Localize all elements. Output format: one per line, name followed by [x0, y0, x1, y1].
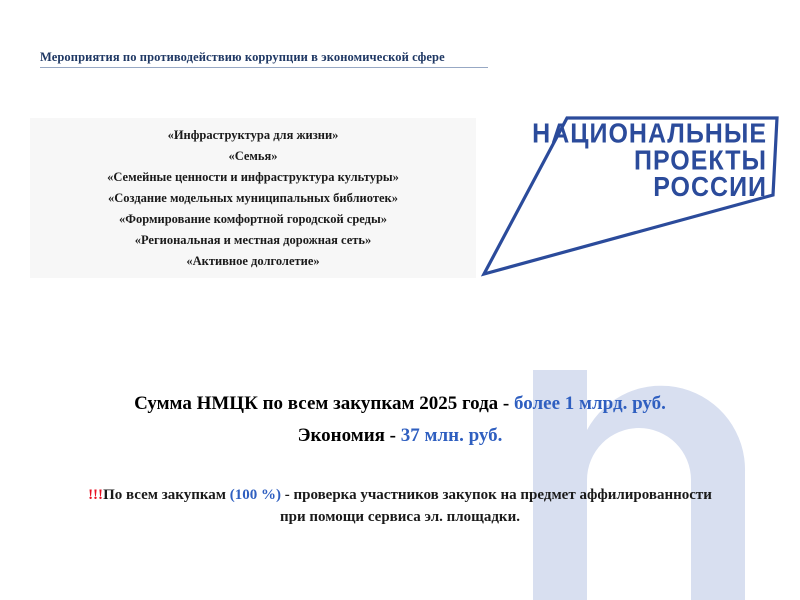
summary-line-nmck: Сумма НМЦК по всем закупкам 2025 года - … [0, 388, 800, 420]
presentation-slide: Мероприятия по противодействию коррупции… [0, 0, 800, 600]
summary-savings-value: 37 млн. руб. [401, 425, 503, 446]
summary-line-savings: Экономия - 37 млн. руб. [0, 420, 800, 452]
slide-heading: Мероприятия по противодействию коррупции… [40, 50, 488, 68]
note-line-1: !!!По всем закупкам (100 %) - проверка у… [0, 484, 800, 506]
summary-block: Сумма НМЦК по всем закупкам 2025 года - … [0, 388, 800, 452]
list-item: «Региональная и местная дорожная сеть» [30, 230, 476, 251]
note-line-2: при помощи сервиса эл. площадки. [0, 506, 800, 528]
logo-line-3: РОССИИ [653, 171, 767, 203]
note-text-part2: - проверка участников закупок на предмет… [281, 487, 712, 503]
note-text-part1: По всем закупкам [103, 487, 230, 503]
page-title: Мероприятия по противодействию коррупции… [40, 50, 488, 64]
list-item: «Активное долголетие» [30, 251, 476, 272]
heading-divider [40, 67, 488, 68]
summary-nmck-value: более 1 млрд. руб. [514, 393, 666, 414]
list-item: «Семейные ценности и инфраструктура куль… [30, 167, 476, 188]
list-item: «Формирование комфортной городской среды… [30, 209, 476, 230]
summary-nmck-label: Сумма НМЦК по всем закупкам 2025 года - [134, 393, 514, 414]
list-item: «Семья» [30, 146, 476, 167]
list-item: «Создание модельных муниципальных библио… [30, 188, 476, 209]
projects-panel: «Инфраструктура для жизни» «Семья» «Семе… [30, 118, 476, 278]
national-projects-logo: НАЦИОНАЛЬНЫЕ ПРОЕКТЫ РОССИИ [470, 110, 790, 285]
note-block: !!!По всем закупкам (100 %) - проверка у… [0, 484, 800, 528]
exclamation-marks: !!! [88, 487, 103, 503]
list-item: «Инфраструктура для жизни» [30, 125, 476, 146]
summary-savings-label: Экономия - [298, 425, 401, 446]
note-percent-value: (100 %) [230, 487, 281, 503]
